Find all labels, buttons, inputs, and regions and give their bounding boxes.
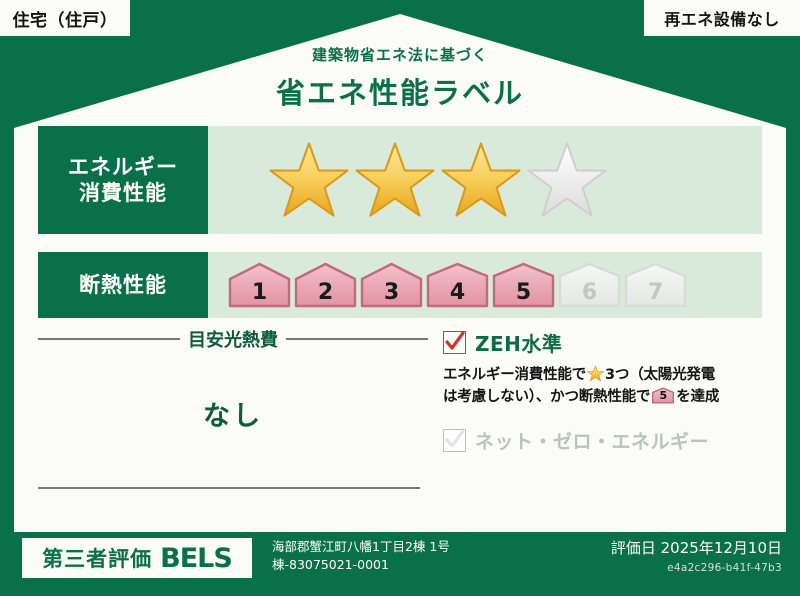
header-subtitle: 建築物省エネ法に基づく	[0, 44, 800, 65]
insulation-level-7: 7	[624, 262, 687, 308]
energy-caption-line1: エネルギー	[68, 154, 178, 180]
star-icon	[440, 141, 522, 219]
building-type-tag-label: 住宅（住戸）	[13, 6, 118, 31]
utility-cost-value: なし	[38, 394, 428, 433]
zeh-checkbox[interactable]	[443, 331, 466, 354]
insulation-level-1: 1	[228, 262, 291, 308]
insulation-level-7-label: 7	[648, 282, 663, 304]
check-icon-faded	[445, 429, 465, 451]
energy-performance-caption: エネルギー 消費性能	[38, 126, 208, 234]
evaluation-date-block: 評価日 2025年12月10日 e4a2c296-b41f-47b3	[611, 537, 782, 574]
renewable-equipment-tag: 再エネ設備なし	[644, 0, 800, 36]
insulation-level-2: 2	[294, 262, 357, 308]
zeh-title: ZEH水準	[475, 328, 562, 357]
energy-performance-value	[208, 126, 762, 234]
label-footer: 第三者評価 BELS 海部郡蟹江町八幡1丁目2棟 1号棟-83075021-00…	[0, 532, 800, 596]
bels-jp-label: 第三者評価	[42, 543, 152, 573]
net-zero-energy-label: ネット・ゼロ・エネルギー	[475, 427, 709, 454]
zeh-heading: ZEH水準	[443, 328, 763, 357]
renewable-equipment-tag-label: 再エネ設備なし	[664, 6, 780, 30]
insulation-level-6-label: 6	[582, 282, 597, 304]
label-hash: e4a2c296-b41f-47b3	[611, 562, 782, 574]
insulation-performance-row: 断熱性能 1 2	[38, 252, 762, 318]
zeh-description: エネルギー消費性能で3つ（太陽光発電 は考慮しない）、かつ断熱性能で5を達成	[443, 365, 763, 409]
star-icon	[587, 365, 604, 382]
insulation-level-2-label: 2	[318, 282, 333, 304]
zeh-desc-part1: エネルギー消費性能で	[443, 367, 586, 383]
evaluation-date-label: 評価日	[611, 539, 656, 557]
insulation-level-3: 3	[360, 262, 423, 308]
insulation-level-5-label: 5	[516, 282, 531, 304]
label-header: 建築物省エネ法に基づく 省エネ性能ラベル	[0, 44, 800, 112]
insulation-level-3-label: 3	[384, 282, 399, 304]
insulation-level-1-label: 1	[252, 282, 267, 304]
zeh-desc-part2: 3つ（太陽光発電	[605, 367, 715, 383]
zeh-desc-line2-part1: は考慮しない）、かつ断熱性能で	[443, 389, 650, 405]
utility-cost-title: 目安光熱費	[188, 326, 278, 352]
energy-label-root: 住宅（住戸） 再エネ設備なし 建築物省エネ法に基づく 省エネ性能ラベル エネルギ…	[0, 0, 800, 596]
bels-en-label: BELS	[160, 543, 232, 574]
divider-right	[286, 338, 428, 340]
utility-cost-section: 目安光熱費 なし	[38, 326, 428, 433]
divider-left	[38, 338, 180, 340]
insulation-level-4: 4	[426, 262, 489, 308]
insulation-performance-caption: 断熱性能	[38, 252, 208, 318]
bels-certification-badge: 第三者評価 BELS	[22, 538, 252, 578]
insulation-badge-5-label: 5	[652, 388, 674, 405]
insulation-performance-value: 1 2 3 4	[208, 252, 762, 318]
star-icon-empty	[526, 141, 608, 219]
insulation-caption-label: 断熱性能	[79, 272, 167, 298]
check-icon	[445, 331, 465, 353]
energy-caption-line2: 消費性能	[68, 180, 178, 206]
insulation-level-4-label: 4	[450, 282, 465, 304]
utility-cost-bottom-rule	[38, 487, 420, 489]
star-icon	[354, 141, 436, 219]
utility-cost-heading: 目安光熱費	[38, 326, 428, 352]
zeh-section: ZEH水準 エネルギー消費性能で3つ（太陽光発電 は考慮しない）、かつ断熱性能で…	[443, 328, 763, 454]
insulation-level-5: 5	[492, 262, 555, 308]
net-zero-energy-row: ネット・ゼロ・エネルギー	[443, 427, 763, 454]
net-zero-energy-checkbox[interactable]	[443, 429, 466, 452]
building-type-tag: 住宅（住戸）	[0, 0, 130, 36]
evaluation-date: 評価日 2025年12月10日	[611, 537, 782, 558]
energy-performance-row: エネルギー 消費性能	[38, 126, 762, 234]
insulation-level-scale: 1 2 3 4	[228, 262, 687, 308]
star-icon	[268, 141, 350, 219]
page-title: 省エネ性能ラベル	[0, 70, 800, 112]
insulation-badge-5: 5	[652, 387, 674, 404]
star-rating	[268, 141, 608, 219]
evaluation-date-value: 2025年12月10日	[661, 539, 782, 557]
property-address: 海部郡蟹江町八幡1丁目2棟 1号棟-83075021-0001	[272, 538, 522, 574]
zeh-desc-line2-part2: を達成	[676, 389, 719, 405]
insulation-level-6: 6	[558, 262, 621, 308]
